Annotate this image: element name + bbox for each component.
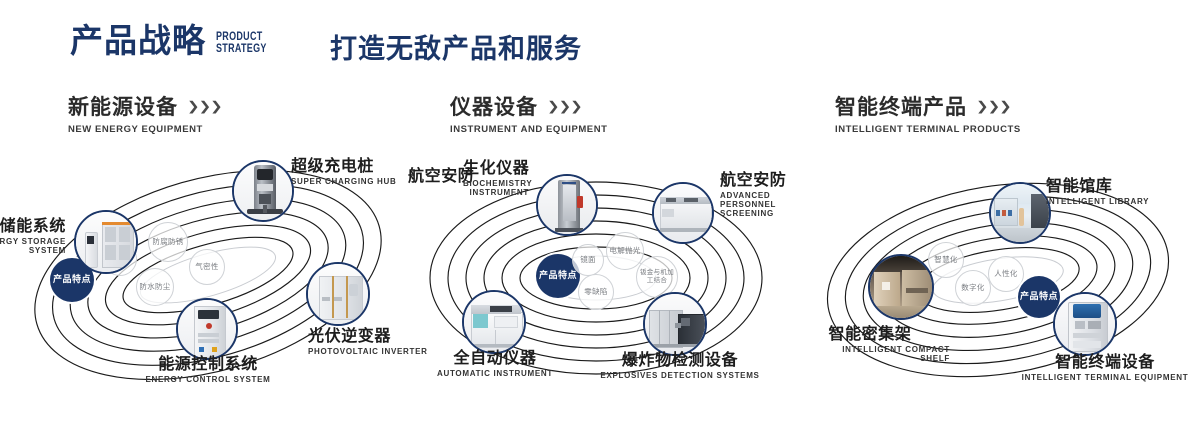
node-biochemistry-instrument[interactable] (536, 174, 598, 236)
feature-bubble: 防腐防锈 (148, 222, 188, 262)
feature-bubble-label: 智慧化 (934, 255, 957, 264)
section-title-en: INTELLIGENT TERMINAL PRODUCTS (835, 124, 1021, 135)
feature-bubble-label: 气密性 (195, 262, 218, 271)
node-photovoltaic-inverter[interactable] (306, 262, 370, 326)
label-advanced-personnel-screening: 航空安防 ADVANCED PERSONNEL SCREENING (720, 172, 800, 219)
feature-bubble-label: 防水防尘 (139, 282, 170, 291)
poster-header: 产品战略 PRODUCT STRATEGY (70, 24, 281, 57)
label-compact-shelf: 智能密集架 INTELLIGENT COMPACT SHELF (790, 326, 950, 364)
chevron-right-icon: ❯❯❯ (547, 101, 582, 115)
label-smart-library: 智能馆库 INTELLIGENT LIBRARY (1046, 178, 1149, 207)
feature-bubble: 人性化 (988, 256, 1024, 292)
header-title-en-line2: STRATEGY (216, 43, 267, 55)
label-explosives-detection: 爆炸物检测设备 EXPLOSIVES DETECTION SYSTEMS (590, 352, 770, 381)
label-terminal-equipment: 智能终端设备 INTELLIGENT TERMINAL EQUIPMENT (1010, 354, 1200, 383)
feature-bubble: 零缺陷 (578, 274, 614, 310)
header-title-en-line1: PRODUCT (216, 31, 267, 43)
label-super-charging-hub: 超级充电桩 SUPER CHARGING HUB (291, 158, 397, 187)
label-automatic-instrument: 全自动仪器 AUTOMATIC INSTRUMENT (410, 350, 580, 379)
label-energy-control-system: 能源控制系统 ENERGY CONTROL SYSTEM (98, 356, 318, 385)
node-terminal-equipment[interactable] (1053, 292, 1117, 356)
section-title-cn: 新能源设备 (68, 96, 178, 119)
label-biochemistry-instrument: 生化仪器 BIOCHEMISTRY INSTRUMENT (463, 160, 529, 198)
node-advanced-personnel-screening[interactable] (652, 182, 714, 244)
feature-bubble-label: 人性化 (994, 269, 1017, 278)
chevron-right-icon: ❯❯❯ (187, 101, 222, 115)
feature-bubble-label: 防腐防锈 (152, 237, 183, 246)
feature-bubble: 镜面 (572, 244, 604, 276)
feature-bubble: 数字化 (955, 270, 991, 306)
label-energy-storage: 储能系统 ENERGY STORAGE SYSTEM (0, 218, 66, 256)
node-energy-control-system[interactable] (176, 298, 238, 360)
section-title-cn: 智能终端产品 (835, 96, 967, 119)
node-explosives-detection[interactable] (643, 292, 707, 356)
header-subtitle: 打造无敌产品和服务 (330, 36, 582, 63)
section-title-intelligent-terminal: 智能终端产品 ❯❯❯ INTELLIGENT TERMINAL PRODUCTS (835, 96, 1021, 135)
feature-bubble-label: 电解抛光 (609, 246, 640, 255)
section-title-en: NEW ENERGY EQUIPMENT (68, 124, 222, 135)
section-title-new-energy: 新能源设备 ❯❯❯ NEW ENERGY EQUIPMENT (68, 96, 222, 135)
section-title-instrument: 仪器设备 ❯❯❯ INSTRUMENT AND EQUIPMENT (450, 96, 607, 135)
cluster-new-energy: 产品特点 户外 防腐防锈 防水防尘 气密性 (8, 150, 408, 400)
feature-bubble: 电解抛光 (606, 232, 644, 270)
cluster-intelligent-terminal: 智慧化 数字化 人性化 产品特点 智能馆库 INTELL (800, 150, 1200, 400)
feature-bubble-label: 钣金与机加工结合 (637, 269, 677, 285)
section-title-en: INSTRUMENT AND EQUIPMENT (450, 124, 607, 135)
node-compact-shelf[interactable] (868, 254, 934, 320)
feature-bubble: 防水防尘 (136, 268, 174, 306)
section-title-cn: 仪器设备 (450, 96, 538, 119)
node-automatic-instrument[interactable] (462, 290, 526, 354)
cluster-instrument: 产品特点 镜面 电解抛光 零缺陷 钣金与机加工结合 航空安防 (400, 150, 800, 400)
node-smart-library[interactable] (989, 182, 1051, 244)
core-bubble-label: 产品特点 (1020, 291, 1058, 302)
feature-bubble-label: 数字化 (961, 283, 984, 292)
core-bubble-label: 产品特点 (539, 270, 577, 281)
core-bubble-label: 产品特点 (53, 274, 91, 285)
node-energy-storage[interactable] (74, 210, 138, 274)
node-super-charging-hub[interactable] (232, 160, 294, 222)
feature-bubble-label: 零缺陷 (584, 287, 607, 296)
feature-bubble-label: 镜面 (580, 255, 596, 264)
header-title-cn: 产品战略 (70, 24, 206, 57)
feature-bubble: 气密性 (189, 249, 225, 285)
chevron-right-icon: ❯❯❯ (976, 101, 1011, 115)
core-bubble: 产品特点 (1018, 276, 1060, 318)
feature-bubble: 智慧化 (928, 242, 964, 278)
poster-canvas: 产品战略 PRODUCT STRATEGY 打造无敌产品和服务 新能源设备 ❯❯… (0, 0, 1200, 422)
header-title-en: PRODUCT STRATEGY (216, 31, 267, 55)
